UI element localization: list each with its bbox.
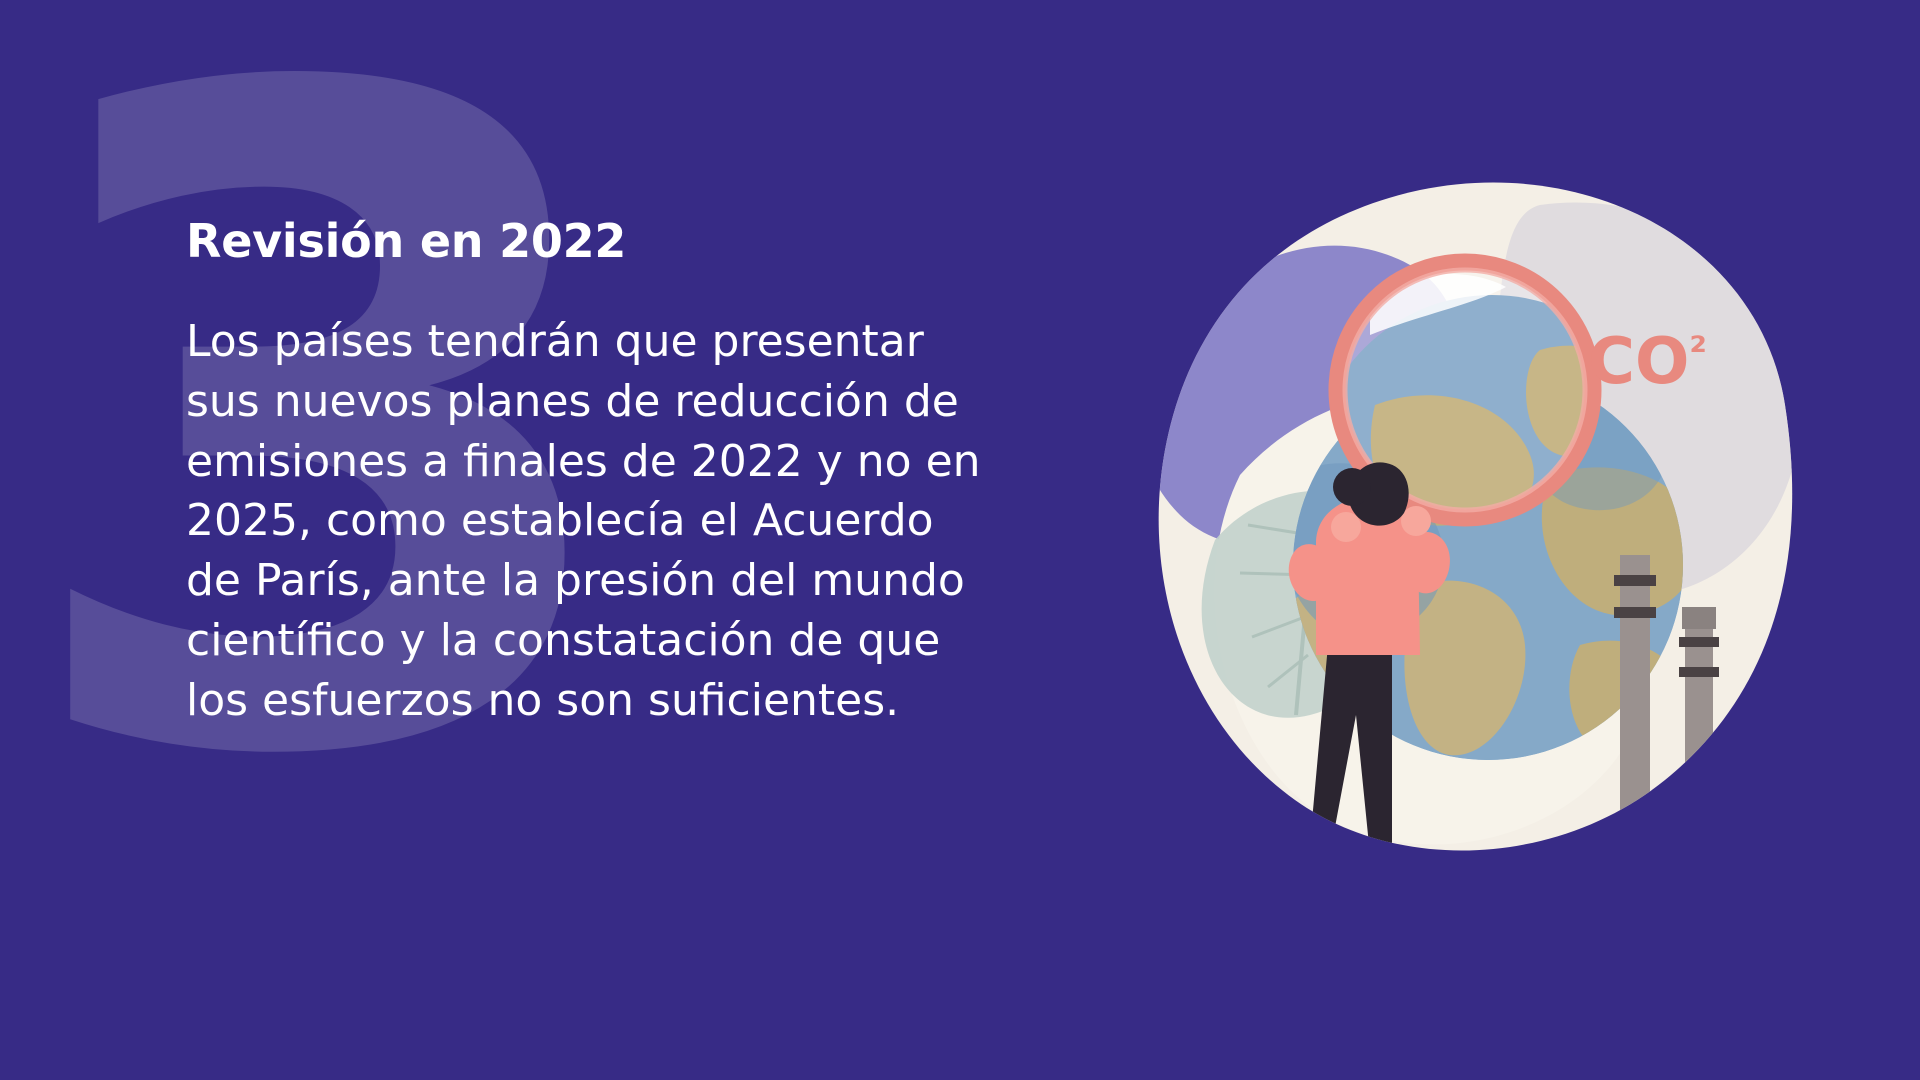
body-line: 2025, como establecía el Acuerdo bbox=[186, 491, 1066, 551]
smokestack-right bbox=[1679, 607, 1719, 895]
illustration-globe-magnifier: CO² bbox=[1120, 175, 1820, 895]
body-line: sus nuevos planes de reducción de bbox=[186, 372, 1066, 432]
body-line: científico y la constatación de que bbox=[186, 611, 1066, 671]
body-line: Los países tendrán que presentar bbox=[186, 312, 1066, 372]
body-paragraph: Los países tendrán que presentar sus nue… bbox=[186, 312, 1066, 731]
smokestack-left bbox=[1614, 555, 1656, 885]
body-line: emisiones a finales de 2022 y no en bbox=[186, 432, 1066, 492]
page-title: Revisión en 2022 bbox=[186, 214, 1086, 268]
body-line: los esfuerzos no son suficientes. bbox=[186, 671, 1066, 731]
body-line: de París, ante la presión del mundo bbox=[186, 551, 1066, 611]
slide-root: 3 Revisión en 2022 Los países tendrán qu… bbox=[0, 0, 1920, 1080]
text-column: Revisión en 2022 Los países tendrán que … bbox=[186, 214, 1086, 731]
co2-label: CO² bbox=[1588, 325, 1707, 399]
